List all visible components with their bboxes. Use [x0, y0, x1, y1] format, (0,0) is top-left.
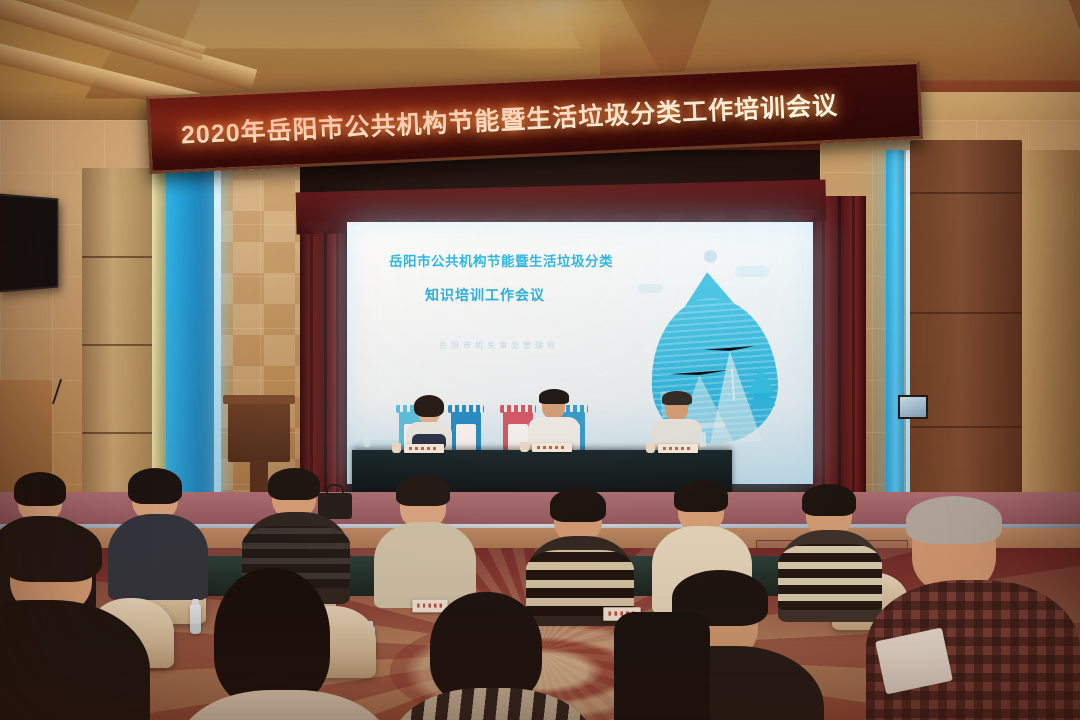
attendee-6-hair [674, 480, 728, 512]
led-strip-left [214, 160, 221, 512]
led-column-right [886, 150, 904, 522]
slide-sun-icon [704, 250, 717, 263]
attendee-12-hair [906, 496, 1002, 544]
attendee-7-stripes [778, 544, 882, 610]
event-banner-text: 2020年岳阳市公共机构节能暨生活垃圾分类工作培训会议 [180, 86, 839, 152]
attendee-3-hair [268, 468, 320, 500]
panel-column-left-trim [152, 160, 166, 512]
head-table-cup-3 [646, 443, 655, 453]
conference-photo-scene: 岳阳市公共机构节能暨生活垃圾分类 知识培训工作会议 岳阳市机关事务管理局 [0, 0, 1080, 720]
attendee-2-body [108, 514, 208, 600]
attendee-4-hair [396, 476, 450, 506]
head-table-placard-3 [658, 444, 698, 453]
attendee-1-hair [14, 472, 66, 506]
podium-top [223, 395, 295, 404]
slide-title-line1: 岳阳市公共机构节能暨生活垃圾分类 [389, 250, 613, 270]
head-table-bottle-1 [364, 432, 370, 447]
wall-panel-far-right [1022, 150, 1080, 530]
head-table-placard-1 [404, 444, 444, 453]
led-column-left [166, 162, 214, 512]
panelist-right-hair [662, 391, 692, 405]
attendee-5-hair [550, 488, 606, 522]
slide-cloud-1 [735, 266, 769, 277]
attendee-5-stripes [526, 550, 634, 616]
panelist-left-hair [414, 395, 444, 417]
confidence-monitor-icon [898, 395, 928, 419]
slide-cloud-2 [637, 284, 663, 293]
panelist-center-hair [539, 389, 569, 404]
slide-pine-2 [747, 366, 775, 394]
head-table-cup-1 [392, 443, 401, 453]
podium [228, 402, 290, 462]
panel-column-left [82, 168, 160, 508]
head-table-cup-2 [520, 442, 529, 452]
foreground-shadow-left [614, 612, 710, 720]
head-table-bottle-2 [700, 432, 706, 447]
slide-title-line2: 知识培训工作会议 [425, 285, 545, 305]
water-bottle-1 [190, 604, 201, 634]
curtain-right [810, 196, 866, 526]
slide-caption: 岳阳市机关事务管理局 [439, 340, 559, 351]
attendee-7-hair [802, 484, 856, 516]
attendee-2-hair [128, 468, 182, 504]
panel-column-right [910, 140, 1022, 530]
head-table-placard-2 [532, 443, 572, 452]
attendee-4-body [374, 522, 476, 608]
wall-tv-icon [0, 193, 58, 292]
attendee-8-hair [0, 520, 102, 582]
